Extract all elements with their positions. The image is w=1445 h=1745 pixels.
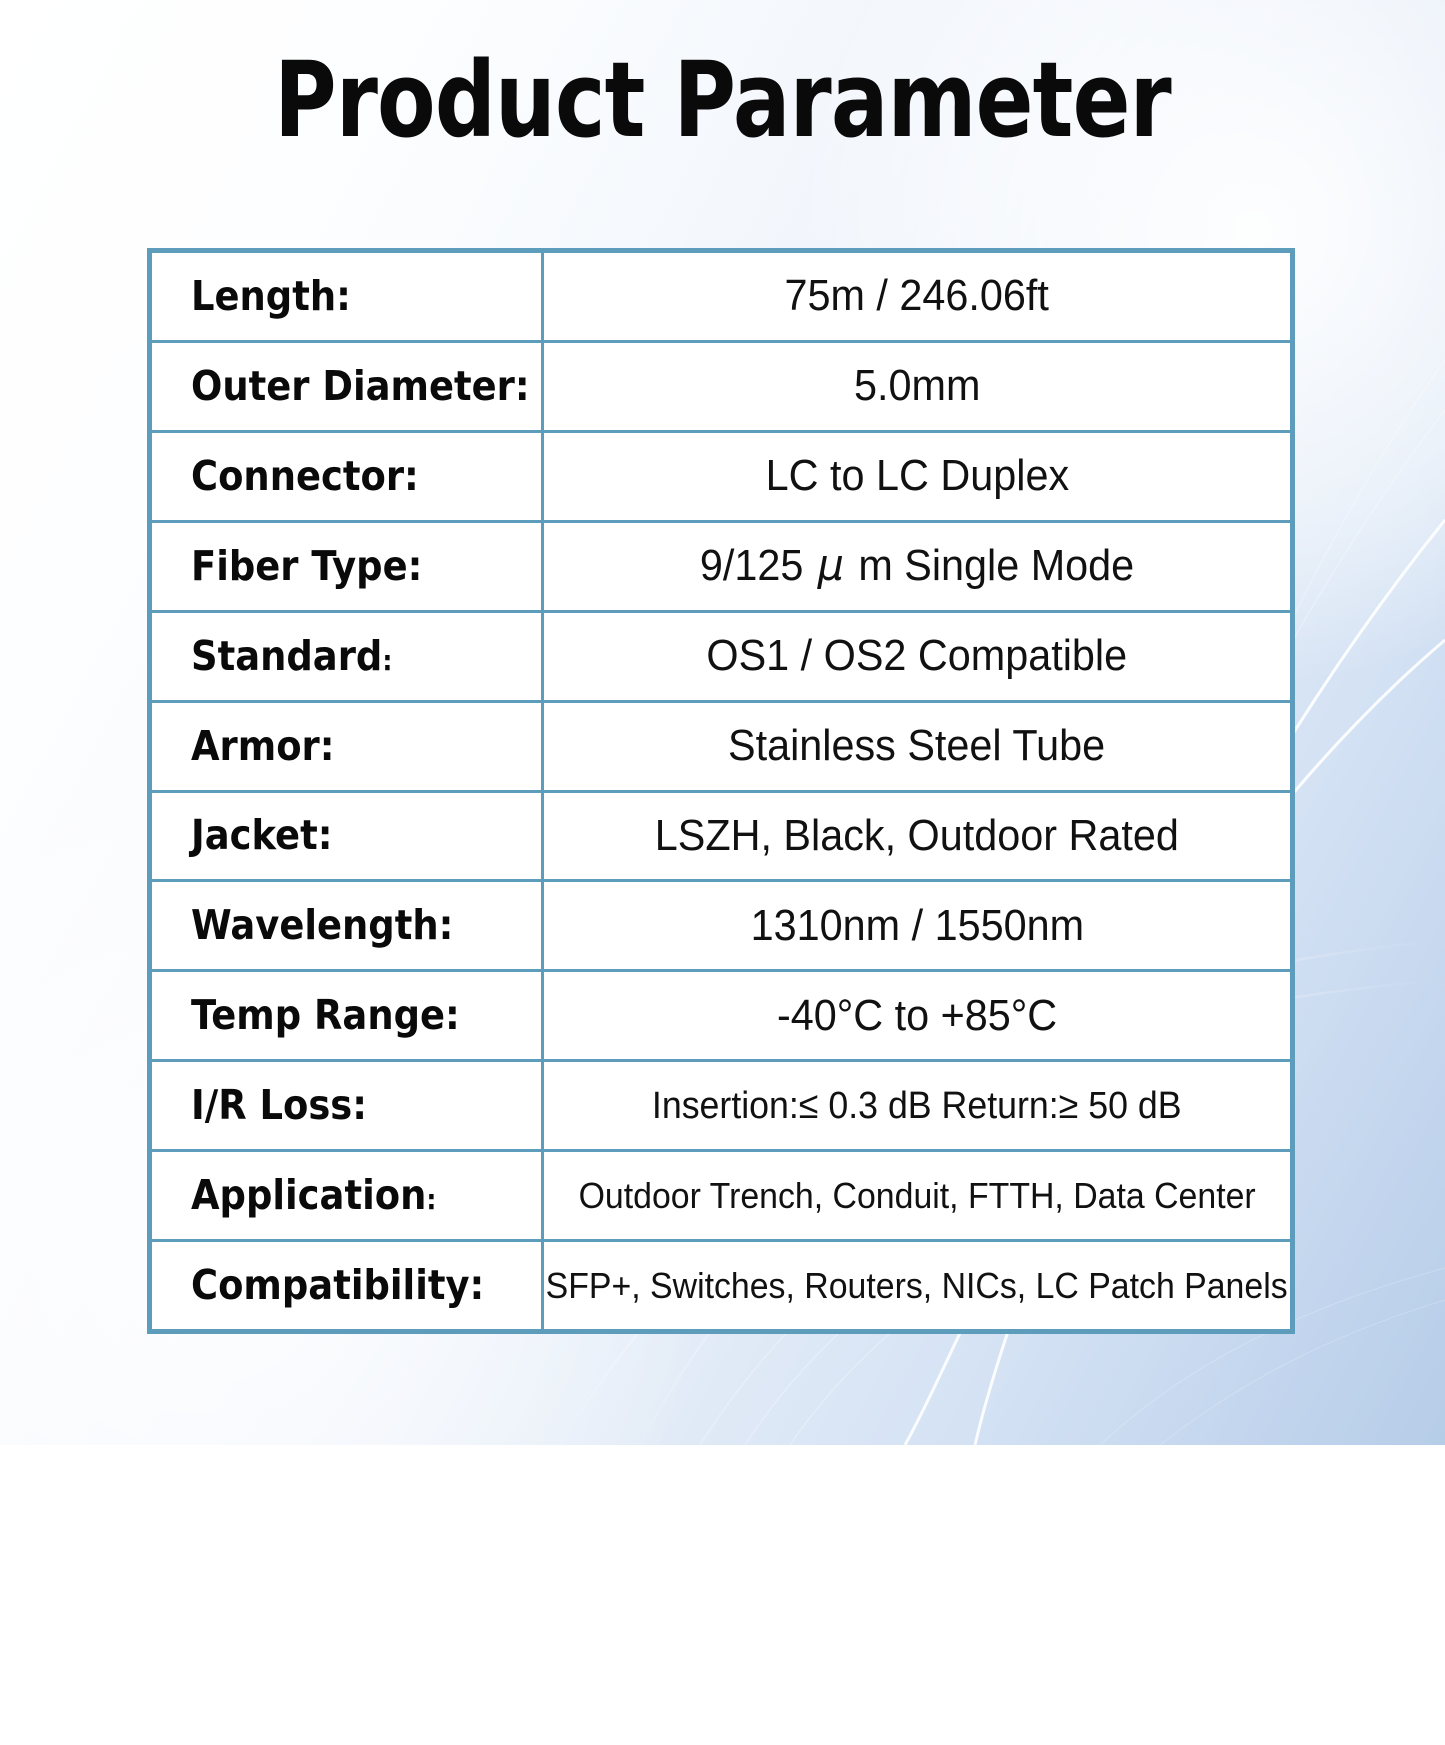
spec-value-text: LSZH, Black, Outdoor Rated	[655, 814, 1179, 858]
table-row: Standard: OS1 / OS2 Compatible	[152, 613, 1290, 703]
spec-value-text: Insertion:≤ 0.3 dB Return:≥ 50 dB	[652, 1087, 1182, 1125]
spec-label-text: Temp Range:	[191, 995, 460, 1036]
spec-value-cell: LC to LC Duplex	[544, 433, 1290, 520]
spec-value-cell: 75m / 246.06ft	[544, 253, 1290, 340]
spec-label-cell: Wavelength:	[152, 882, 544, 969]
table-row: I/R Loss: Insertion:≤ 0.3 dB Return:≥ 50…	[152, 1062, 1290, 1152]
spec-label-text: Outer Diameter:	[191, 366, 530, 407]
spec-value-cell: 1310nm / 1550nm	[544, 882, 1290, 969]
table-row: Application: Outdoor Trench, Conduit, FT…	[152, 1152, 1290, 1242]
spec-value-cell: Outdoor Trench, Conduit, FTTH, Data Cent…	[544, 1152, 1290, 1239]
spec-label-text: I/R Loss:	[191, 1085, 367, 1126]
spec-label-text: Connector:	[191, 456, 419, 497]
spec-value-text: LC to LC Duplex	[765, 454, 1068, 498]
spec-label-cell: Armor:	[152, 703, 544, 790]
spec-value-cell: LSZH, Black, Outdoor Rated	[544, 793, 1290, 880]
table-row: Outer Diameter: 5.0mm	[152, 343, 1290, 433]
spec-label-text: Jacket:	[191, 815, 332, 856]
table-row: Jacket: LSZH, Black, Outdoor Rated	[152, 793, 1290, 883]
table-row: Temp Range: -40°C to +85°C	[152, 972, 1290, 1062]
table-row: Armor: Stainless Steel Tube	[152, 703, 1290, 793]
spec-label-cell: I/R Loss:	[152, 1062, 544, 1149]
spec-value-text: 1310nm / 1550nm	[750, 904, 1083, 948]
spec-label-text: Standard:	[191, 636, 392, 677]
spec-label-text: Compatibility:	[191, 1265, 484, 1306]
table-row: Connector: LC to LC Duplex	[152, 433, 1290, 523]
spec-value-cell: -40°C to +85°C	[544, 972, 1290, 1059]
spec-value-text: 9/125 μ m Single Mode	[700, 544, 1134, 588]
spec-label-cell: Compatibility:	[152, 1242, 544, 1329]
spec-label-cell: Temp Range:	[152, 972, 544, 1059]
spec-value-cell: SFP+, Switches, Routers, NICs, LC Patch …	[544, 1242, 1290, 1329]
spec-value-cell: 9/125 μ m Single Mode	[544, 523, 1290, 610]
spec-label-text: Length:	[191, 276, 351, 317]
table-row: Compatibility: SFP+, Switches, Routers, …	[152, 1242, 1290, 1329]
spec-label-cell: Outer Diameter:	[152, 343, 544, 430]
spec-value-text: SFP+, Switches, Routers, NICs, LC Patch …	[546, 1268, 1288, 1304]
spec-value-text: Stainless Steel Tube	[728, 724, 1105, 768]
spec-value-cell: OS1 / OS2 Compatible	[544, 613, 1290, 700]
spec-label-text: Wavelength:	[191, 905, 453, 946]
spec-value-cell: 5.0mm	[544, 343, 1290, 430]
spec-value-text: -40°C to +85°C	[777, 994, 1057, 1038]
spec-label-text: Application:	[191, 1175, 436, 1216]
table-row: Length: 75m / 246.06ft	[152, 253, 1290, 343]
spec-value-text: Outdoor Trench, Conduit, FTTH, Data Cent…	[578, 1178, 1255, 1214]
spec-label-cell: Connector:	[152, 433, 544, 520]
product-parameter-table: Length: 75m / 246.06ft Outer Diameter: 5…	[147, 248, 1295, 1334]
spec-value-text: 5.0mm	[854, 364, 980, 408]
spec-value-cell: Stainless Steel Tube	[544, 703, 1290, 790]
spec-label-cell: Jacket:	[152, 793, 544, 880]
spec-label-cell: Length:	[152, 253, 544, 340]
page-title: Product Parameter	[130, 48, 1315, 152]
spec-value-text: 75m / 246.06ft	[785, 274, 1049, 318]
spec-label-cell: Fiber Type:	[152, 523, 544, 610]
table-row: Fiber Type: 9/125 μ m Single Mode	[152, 523, 1290, 613]
spec-value-cell: Insertion:≤ 0.3 dB Return:≥ 50 dB	[544, 1062, 1290, 1149]
spec-label-cell: Application:	[152, 1152, 544, 1239]
spec-label-text: Armor:	[191, 726, 335, 767]
spec-value-text: OS1 / OS2 Compatible	[707, 634, 1128, 678]
table-row: Wavelength: 1310nm / 1550nm	[152, 882, 1290, 972]
spec-label-text: Fiber Type:	[191, 546, 422, 587]
spec-label-cell: Standard:	[152, 613, 544, 700]
